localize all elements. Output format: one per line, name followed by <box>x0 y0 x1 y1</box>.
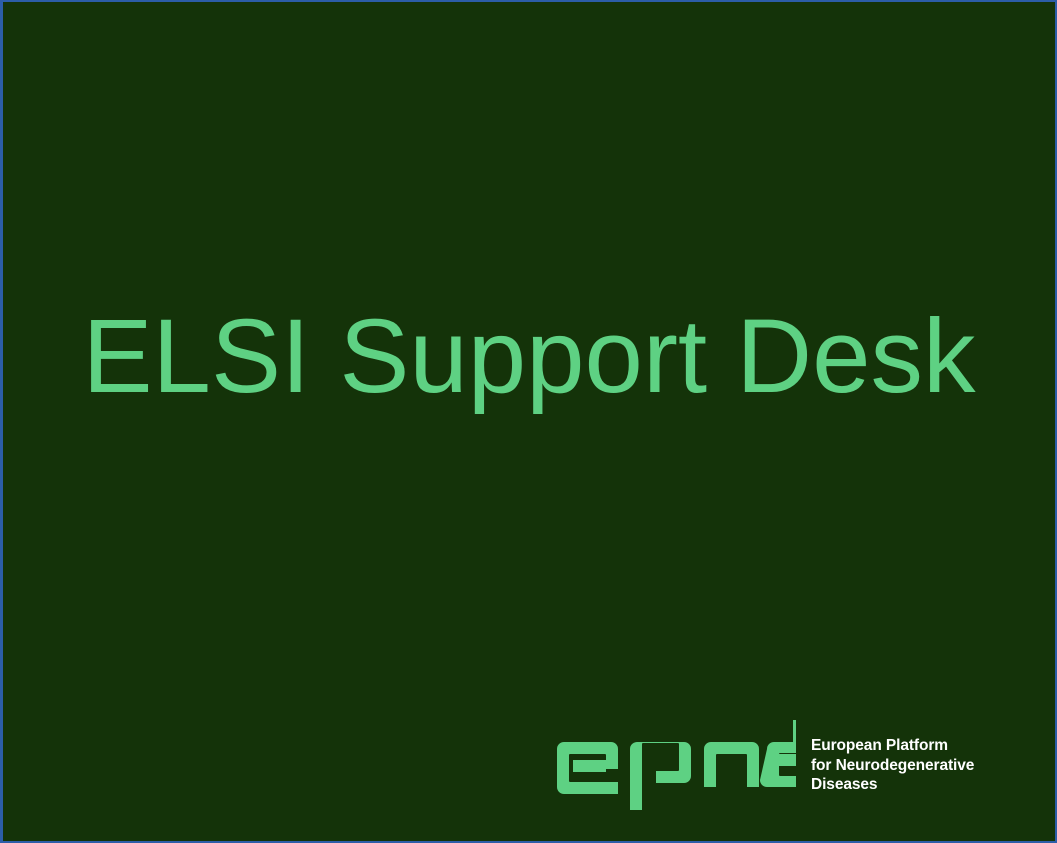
presentation-slide: ELSI Support Desk European P <box>0 0 1057 843</box>
epnd-wordmark-icon <box>554 716 796 816</box>
page-title: ELSI Support Desk <box>3 304 1055 409</box>
logo-tagline-line-1: European Platform <box>811 736 974 756</box>
logo-tagline-line-3: Diseases <box>811 775 974 795</box>
logo-tagline-line-2: for Neurodegenerative <box>811 756 974 776</box>
epnd-logo: European Platform for Neurodegenerative … <box>554 716 1014 816</box>
logo-tagline: European Platform for Neurodegenerative … <box>811 736 974 795</box>
